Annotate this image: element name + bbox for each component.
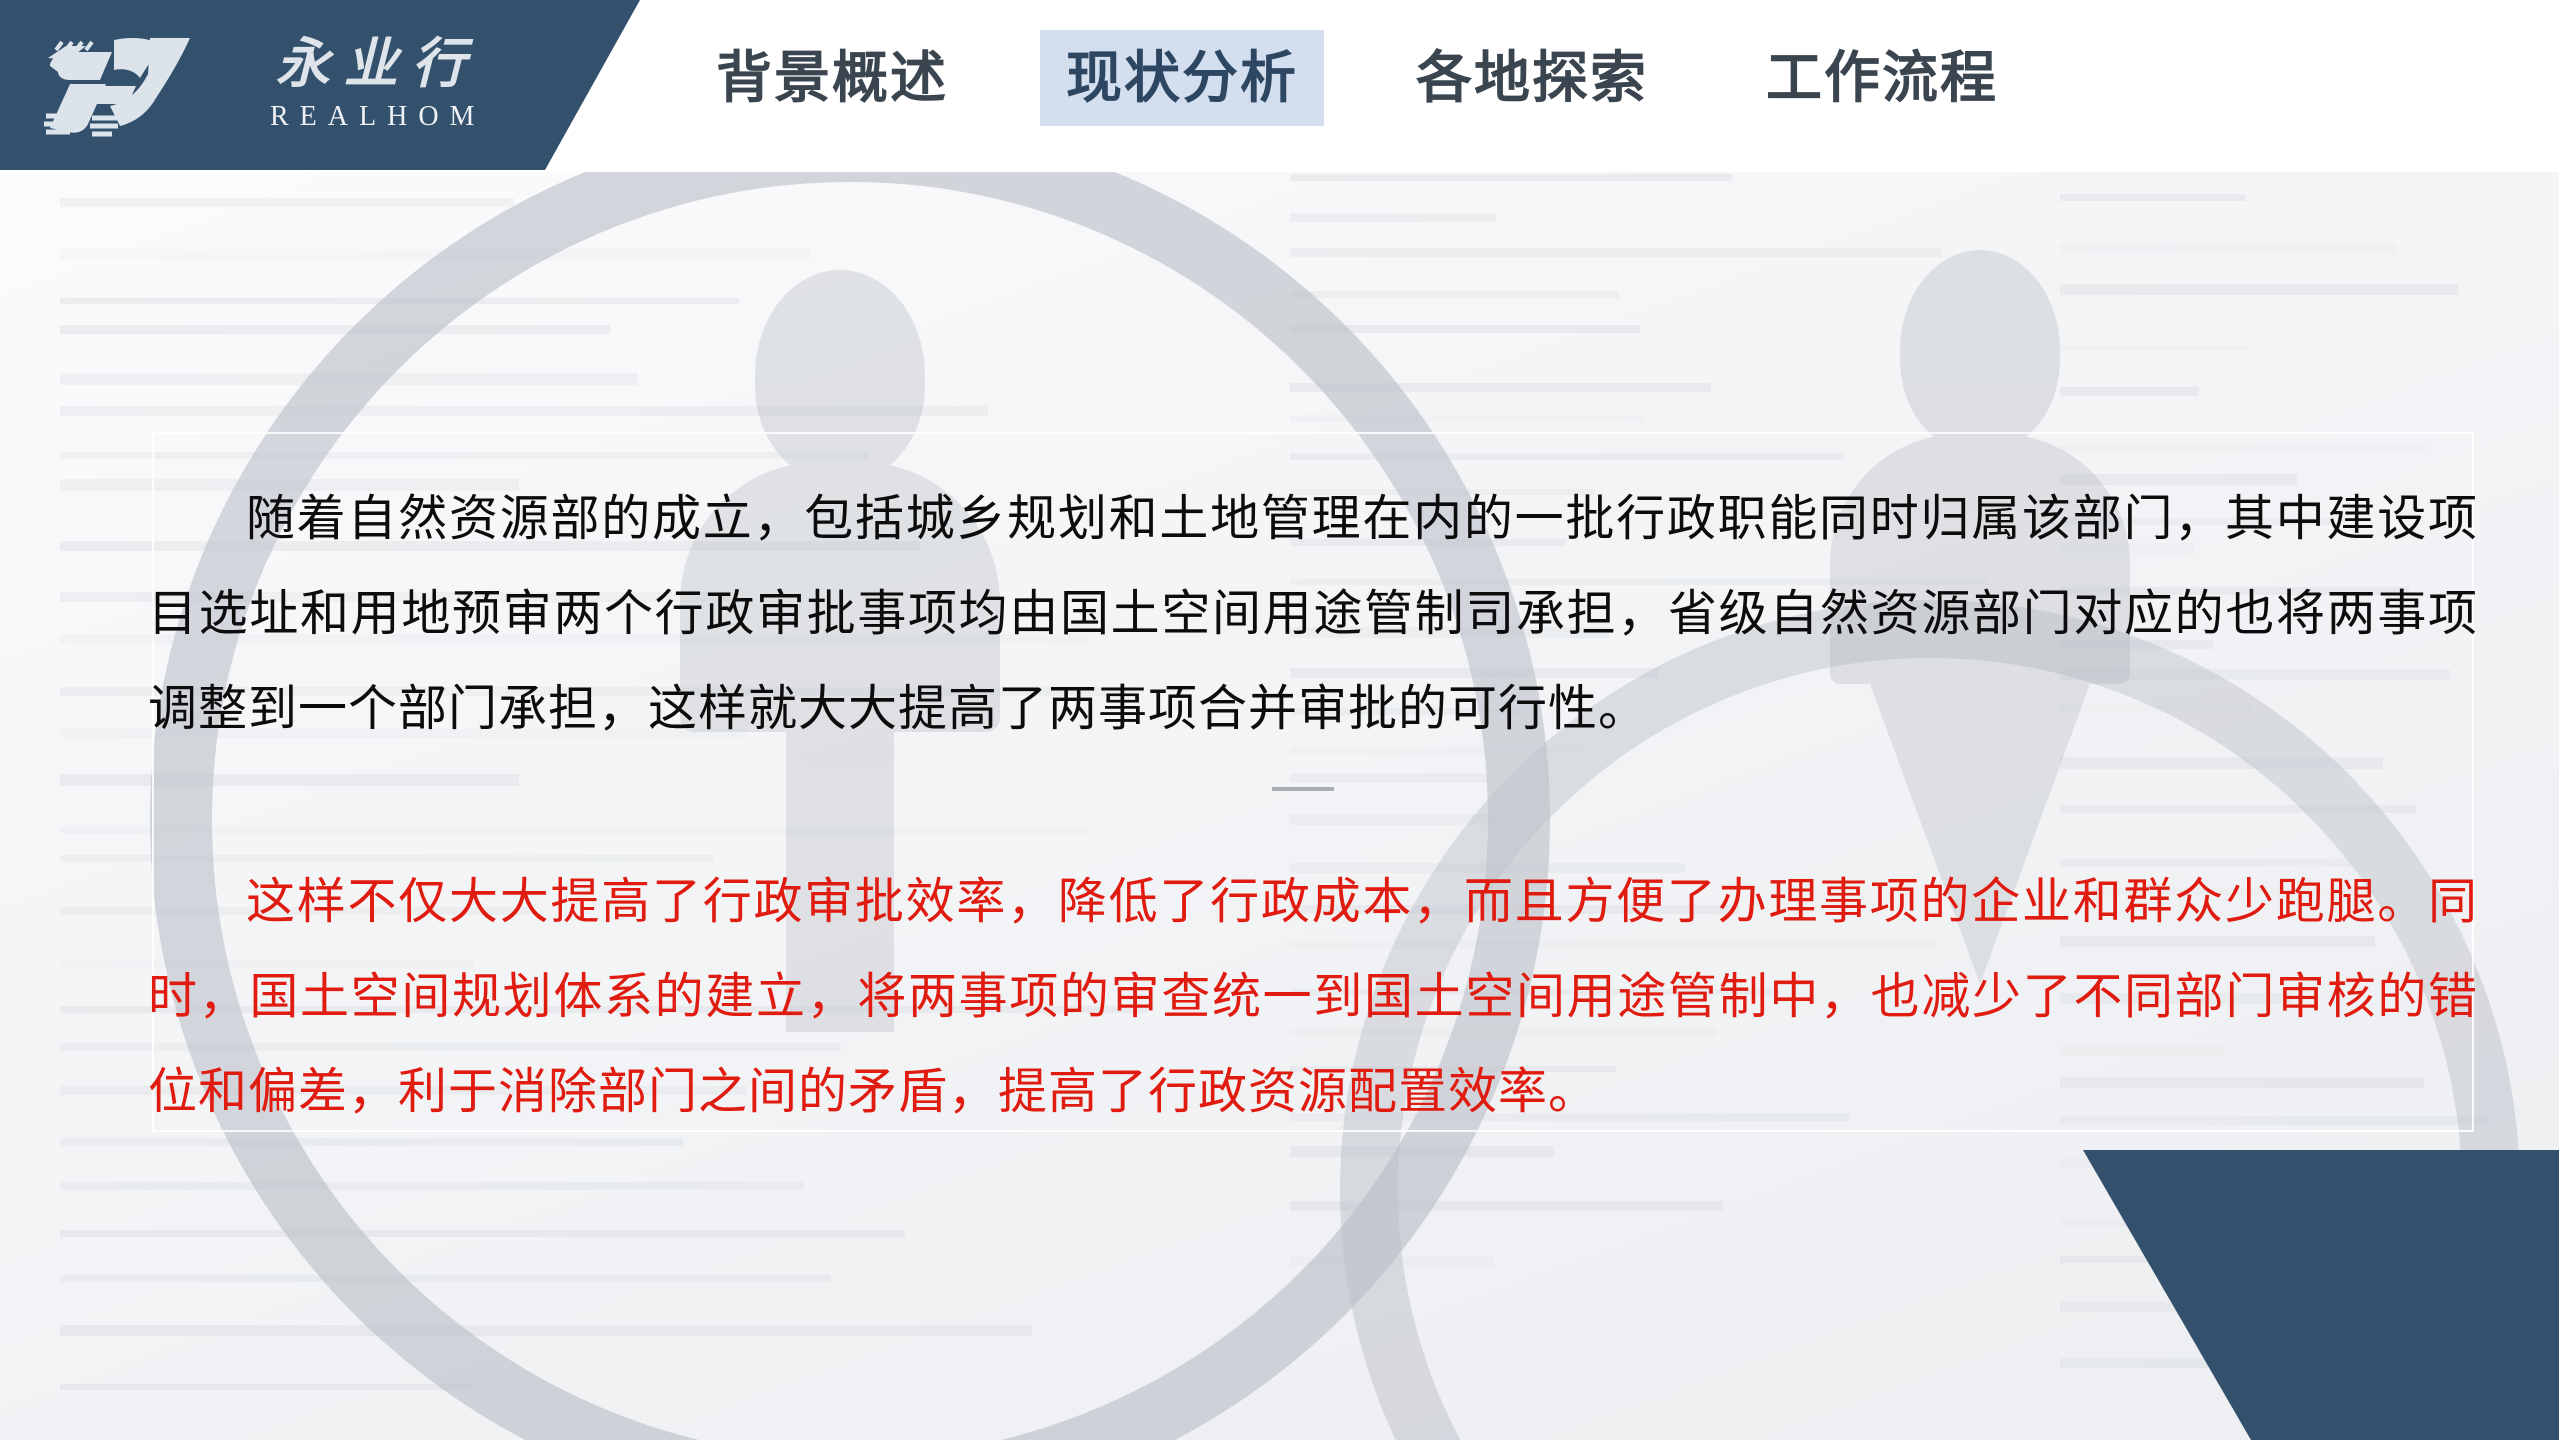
paragraph-primary: 随着自然资源部的成立，包括城乡规划和土地管理在内的一批行政职能同时归属该部门，其… xyxy=(148,472,2478,757)
header-divider xyxy=(290,170,2559,173)
nav-item-current-analysis[interactable]: 现状分析 xyxy=(1040,30,1324,125)
nav-item-background-overview[interactable]: 背景概述 xyxy=(690,30,974,125)
texture-line xyxy=(1290,174,1732,181)
brand-wordmark: 永业行 REALHOM xyxy=(258,37,485,133)
paragraph-highlight-text: 这样不仅大大提高了行政审批效率，降低了行政成本，而且方便了办理事项的企业和群众少… xyxy=(148,855,2478,1140)
texture-line xyxy=(60,1384,478,1390)
yh-monogram-logo-icon xyxy=(40,20,240,145)
presentation-slide: 永业行 REALHOM 背景概述 现状分析 各地探索 工作流程 随着自然资源部的… xyxy=(0,0,2559,1440)
silhouette-head xyxy=(1900,250,2060,450)
nav-item-workflow[interactable]: 工作流程 xyxy=(1740,30,2024,125)
nav-item-regional-exploration[interactable]: 各地探索 xyxy=(1390,30,1674,125)
section-nav: 背景概述 现状分析 各地探索 工作流程 xyxy=(690,18,2024,138)
texture-line xyxy=(60,198,514,207)
slide-header: 永业行 REALHOM 背景概述 现状分析 各地探索 工作流程 xyxy=(0,0,2559,172)
paragraph-separator-rule xyxy=(1272,787,1334,791)
texture-line xyxy=(1290,291,1619,298)
paragraph-highlight: 这样不仅大大提高了行政审批效率，降低了行政成本，而且方便了办理事项的企业和群众少… xyxy=(148,855,2478,1140)
brand-name-cn: 永业行 xyxy=(264,37,480,91)
brand-name-en: REALHOM xyxy=(258,101,485,133)
texture-line xyxy=(1290,213,1496,222)
texture-line xyxy=(2060,194,2246,201)
paragraph-primary-text: 随着自然资源部的成立，包括城乡规划和土地管理在内的一批行政职能同时归属该部门，其… xyxy=(148,472,2478,757)
brand-logo[interactable]: 永业行 REALHOM xyxy=(40,20,485,145)
